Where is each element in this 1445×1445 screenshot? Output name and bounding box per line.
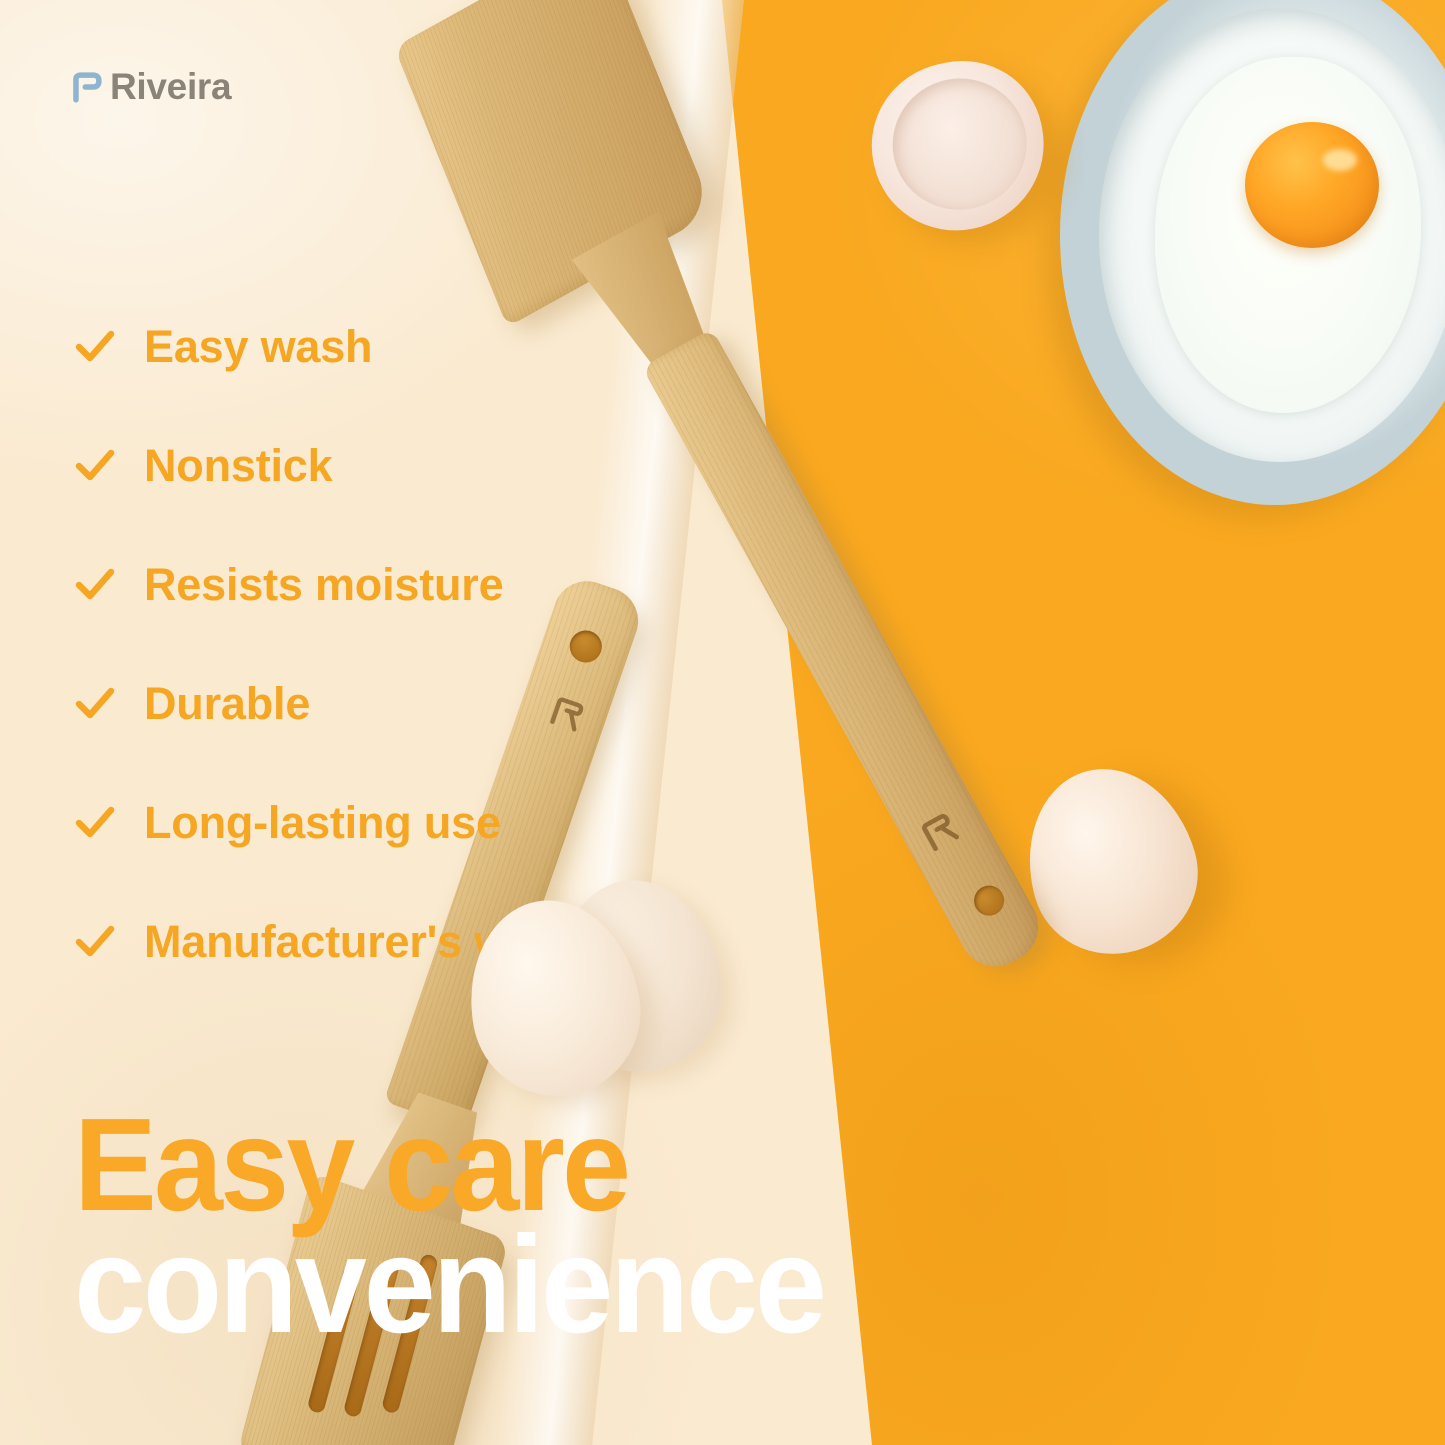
feature-item: Easy wash: [72, 318, 832, 374]
brand-logo: Riveira: [70, 68, 231, 105]
feature-list: Easy wash Nonstick Resists moisture Dura…: [72, 318, 832, 1032]
feature-label: Nonstick: [144, 443, 332, 488]
feature-item: Long-lasting use: [72, 794, 832, 850]
feature-item: Resists moisture: [72, 556, 832, 612]
check-icon: [72, 918, 118, 964]
headline-line-1: Easy care: [74, 1108, 1108, 1222]
headline: Easy care convenience: [74, 1108, 1174, 1344]
check-icon: [72, 561, 118, 607]
headline-line-2: convenience: [74, 1226, 1108, 1345]
feature-item: Manufacturer's warranty: [72, 913, 832, 969]
feature-label: Durable: [144, 681, 310, 726]
feature-item: Durable: [72, 675, 832, 731]
eggshell-interior: [880, 66, 1038, 222]
brand-name: Riveira: [110, 68, 231, 105]
raw-egg-yolk: [1245, 122, 1379, 248]
check-icon: [72, 680, 118, 726]
check-icon: [72, 799, 118, 845]
feature-item: Nonstick: [72, 437, 832, 493]
feature-label: Long-lasting use: [144, 800, 501, 845]
riveira-r-logo-icon: [70, 69, 104, 105]
check-icon: [72, 323, 118, 369]
feature-label: Resists moisture: [144, 562, 503, 607]
yolk-highlight: [1323, 149, 1357, 171]
feature-label: Easy wash: [144, 324, 372, 369]
check-icon: [72, 442, 118, 488]
product-marketing-image: Riveira Easy wash Nonstick Resists moist…: [0, 0, 1445, 1445]
